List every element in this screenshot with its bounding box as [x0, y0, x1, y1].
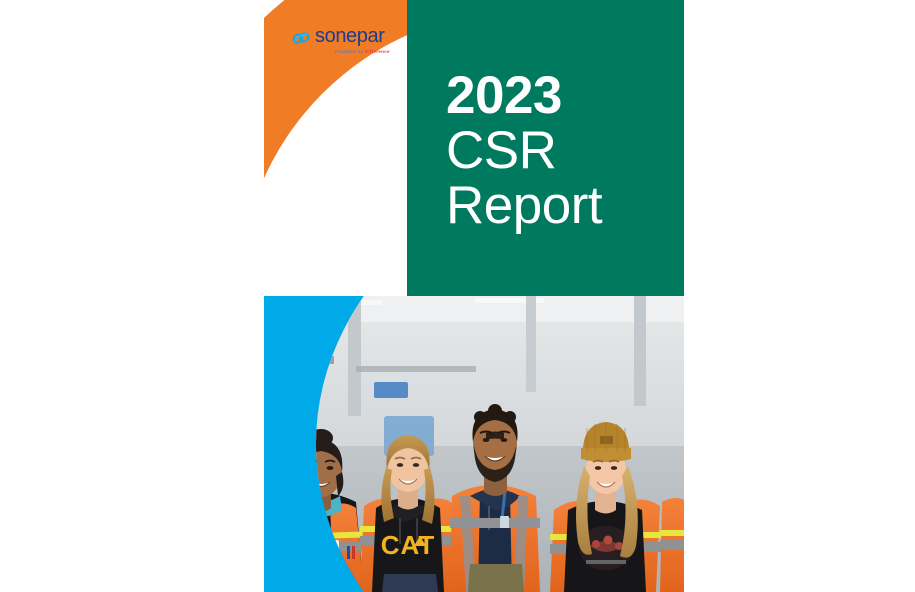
- title-line-csr: CSR: [446, 125, 676, 177]
- logo-tagline: Powered by Difference: [335, 49, 390, 54]
- blue-crescent-field: CAT: [264, 296, 684, 592]
- logo-tagline-prefix: Powered by: [335, 49, 365, 54]
- svg-text:CAT: CAT: [381, 530, 436, 560]
- sonepar-swirl-icon: [291, 28, 311, 48]
- screenshot-canvas: 2023 CSR Report: [0, 0, 915, 592]
- sonepar-logo: sonepar Powered by Difference: [291, 26, 390, 54]
- logo-text-group: sonepar Powered by Difference: [315, 26, 390, 54]
- logo-tagline-accent: Difference: [365, 49, 390, 54]
- warehouse-team-photo: CAT: [264, 296, 684, 592]
- title-year: 2023: [446, 70, 676, 122]
- green-title-panel: 2023 CSR Report: [407, 0, 684, 296]
- report-cover-page: 2023 CSR Report: [264, 0, 684, 592]
- page-title: 2023 CSR Report: [446, 70, 676, 232]
- title-line-report: Report: [446, 180, 676, 232]
- logo-wordmark: sonepar: [315, 26, 384, 46]
